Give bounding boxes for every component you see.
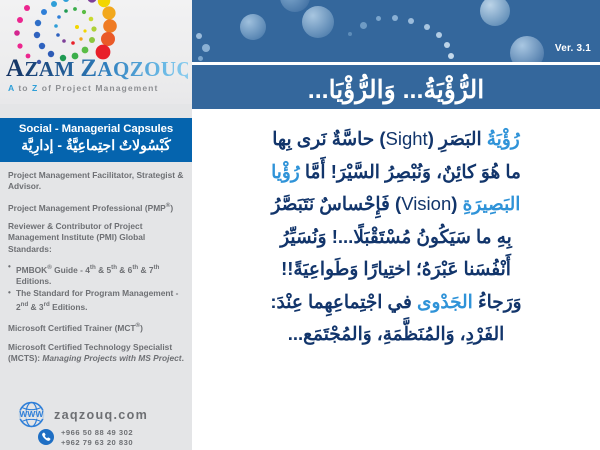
bubble-decoration <box>196 33 202 39</box>
credential-item: Project Management Professional (PMP®) <box>8 200 184 214</box>
line-6: وَرَجاءُ الجَدْوى في اجْتِماعِهِما عِنْد… <box>202 286 590 319</box>
band-title-arabic: كَبْسُولاتٌ اجتِماعِيَّةٌ - إدارِيَّة <box>0 135 192 154</box>
text-segment: رُؤْيَةُ <box>487 128 520 149</box>
standard-item: PMBOK® Guide - 4th & 5th & 6th & 7th Edi… <box>8 262 184 288</box>
slide-title-bar: الرُّؤْيَةُ... وَالرُّؤْيَا... <box>192 65 600 109</box>
text-segment: ) فَإِحْساسٌ نَتَبَصَّرُ <box>272 193 402 214</box>
text-segment: ) حاسَّةٌ نَرى بِها <box>272 128 385 149</box>
logo-wordmark: AZAM ZAQZOUQ <box>6 56 188 82</box>
logo-area: AZAM ZAQZOUQ A to Z of Project Managemen… <box>0 0 192 104</box>
text-segment: الفَرْدِ، وَالمُنَظَّمَةِ، وَالمُجْتَمَع… <box>288 323 504 344</box>
phone-numbers: +966 50 88 49 302 +962 79 63 20 830 <box>61 428 133 447</box>
content-body: رُؤْيَةُ البَصَرِ (Sight) حاسَّةٌ نَرى ب… <box>192 109 600 450</box>
www-label: WWW <box>18 409 45 419</box>
header-banner: Ver. 3.1 <box>192 0 600 62</box>
credential-item: Reviewer & Contributor of Project Manage… <box>8 221 184 255</box>
bubble-decoration <box>408 18 414 24</box>
tagline-to: to <box>15 83 32 93</box>
text-segment: ( <box>451 193 462 214</box>
bubble-decoration <box>444 42 450 48</box>
text-segment: البَصَرِ ( <box>428 128 487 149</box>
bubble-decoration <box>302 6 334 38</box>
bubble-decoration <box>240 14 266 40</box>
credential-mcts: Microsoft Certified Technology Specialis… <box>8 342 184 365</box>
bubble-decoration <box>510 36 544 62</box>
line-5: أَنْفُسَنا عَبْرَهُ؛ اختِيارًا وَطَواعِي… <box>202 253 590 286</box>
sidebar: AZAM ZAQZOUQ A to Z of Project Managemen… <box>0 0 192 450</box>
version-label: Ver. 3.1 <box>555 43 591 54</box>
phone-row: +966 50 88 49 302 +962 79 63 20 830 <box>38 428 192 447</box>
tagline-rest: of Project Management <box>38 83 158 93</box>
phone-number-1: +966 50 88 49 302 <box>61 428 133 438</box>
phone-number-2: +962 79 63 20 830 <box>61 438 133 448</box>
logo-tagline: A to Z of Project Management <box>8 83 190 93</box>
slide-title: الرُّؤْيَةُ... وَالرُّؤْيَا... <box>192 65 600 109</box>
text-segment: أَنْفُسَنا عَبْرَهُ؛ اختِيارًا وَطَواعِي… <box>281 258 511 279</box>
bubble-decoration <box>424 24 430 30</box>
bubble-decoration <box>360 22 367 29</box>
text-segment: Sight <box>386 128 428 149</box>
text-segment: رُؤْيا <box>271 161 300 182</box>
bubble-decoration <box>348 32 352 36</box>
text-segment: بِهِ ما سَيَكُونُ مُسْتَقْبَلًا...! وَنُ… <box>280 226 512 247</box>
line-4: بِهِ ما سَيَكُونُ مُسْتَقْبَلًا...! وَنُ… <box>202 221 590 254</box>
bubble-decoration <box>198 56 203 61</box>
text-segment: البَصِيرَةِ <box>463 193 521 214</box>
wordmark-aqzouq: AQZOUQ <box>97 57 192 81</box>
line-3: البَصِيرَةِ (Vision) فَإِحْساسٌ نَتَبَصَ… <box>202 188 590 221</box>
bubble-decoration <box>392 15 398 21</box>
sidebar-title-band: Social - Managerial Capsules كَبْسُولاتٌ… <box>0 118 192 162</box>
slide-root: AZAM ZAQZOUQ A to Z of Project Managemen… <box>0 0 600 450</box>
credential-item: Project Management Facilitator, Strategi… <box>8 170 184 193</box>
bubble-decoration <box>202 44 210 52</box>
standard-item: The Standard for Program Management - 2n… <box>8 288 184 314</box>
credentials-list: Project Management Facilitator, Strategi… <box>8 170 184 371</box>
line-2: ما هُوَ كائِنٌ، وَنُبْصِرُ السَّيْرَ! أَ… <box>202 156 590 189</box>
wordmark-zam: ZAM <box>24 57 74 81</box>
phone-icon <box>38 429 54 445</box>
color-dot-spiral-icon <box>8 0 126 64</box>
band-title-english: Social - Managerial Capsules <box>0 118 192 135</box>
text-segment: وَرَجاءُ <box>473 291 522 312</box>
text-segment: في اجْتِماعِهِما عِنْدَ: <box>270 291 417 312</box>
website-row[interactable]: WWW zaqzouq.com <box>18 401 192 428</box>
globe-icon: WWW <box>18 401 45 428</box>
bubble-decoration <box>436 32 442 38</box>
mcts-italic: Managing Projects with MS Project <box>42 353 181 363</box>
text-segment: الجَدْوى <box>417 291 473 312</box>
bubble-decoration <box>480 0 510 26</box>
standards-list: PMBOK® Guide - 4th & 5th & 6th & 7th Edi… <box>8 262 184 313</box>
website-url[interactable]: zaqzouq.com <box>54 408 148 422</box>
mcts-tail: . <box>182 353 184 363</box>
line-7: الفَرْدِ، وَالمُنَظَّمَةِ، وَالمُجْتَمَع… <box>202 318 590 351</box>
bubble-decoration <box>448 53 454 59</box>
tagline-a: A <box>8 83 15 93</box>
line-1: رُؤْيَةُ البَصَرِ (Sight) حاسَّةٌ نَرى ب… <box>202 123 590 156</box>
bubble-decoration <box>376 16 381 21</box>
credential-mct: Microsoft Certified Trainer (MCT®) <box>8 320 184 334</box>
text-segment: ما هُوَ كائِنٌ، وَنُبْصِرُ السَّيْرَ! أَ… <box>300 161 521 182</box>
text-segment: Vision <box>401 193 451 214</box>
